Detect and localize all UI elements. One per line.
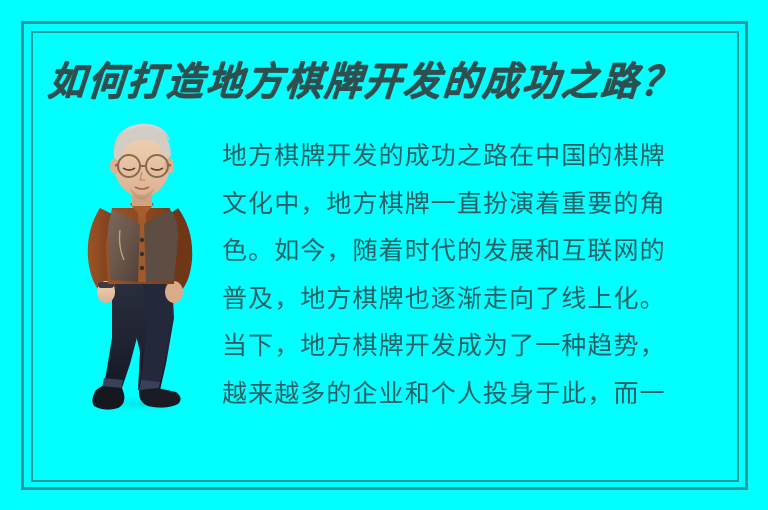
- page-title: 如何打造地方棋牌开发的成功之路？: [46, 55, 711, 110]
- article-body: 地方棋牌开发的成功之路在中国的棋牌 文化中，地方棋牌一直扮演着重要的角 色。如今…: [222, 132, 742, 417]
- article-card: 如何打造地方棋牌开发的成功之路？: [0, 0, 768, 510]
- vest-button: [140, 238, 144, 242]
- character-illustration: [60, 112, 220, 417]
- body-line: 色。如今，随着时代的发展和互联网的: [222, 227, 742, 275]
- body-line: 文化中，地方棋牌一直扮演着重要的角: [222, 180, 742, 228]
- body-line: 当下，地方棋牌开发成为了一种趋势，: [222, 322, 742, 370]
- character-right-hand: [165, 281, 183, 303]
- vest-button: [140, 252, 144, 256]
- body-line: 越来越多的企业和个人投身于此，而一: [222, 370, 742, 418]
- character-shoe-left: [92, 386, 124, 410]
- body-line: 普及，地方棋牌也逐渐走向了线上化。: [222, 275, 742, 323]
- body-line: 地方棋牌开发的成功之路在中国的棋牌: [222, 132, 742, 180]
- vest-button: [140, 266, 144, 270]
